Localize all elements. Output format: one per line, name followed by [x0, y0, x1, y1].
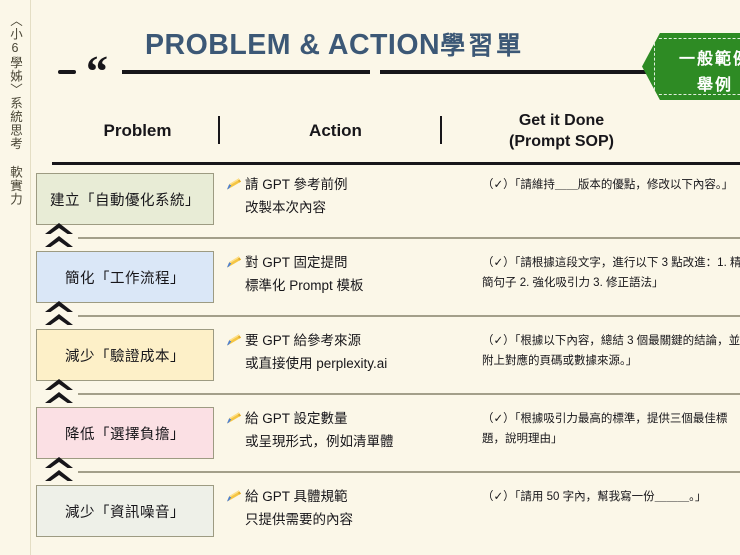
quote-mark-icon: “: [86, 50, 108, 94]
column-header-problem: Problem: [60, 120, 215, 141]
action-text-2: 或直接使用 perplexity.ai: [245, 356, 387, 371]
side-note-text: 〈小6學姊〉系統思考 軟實力: [4, 14, 26, 206]
action-text-1: 請 GPT 參考前例: [245, 177, 348, 192]
banner-line-1: 一般範例: [664, 45, 740, 69]
action-line-2: 改製本次內容: [226, 196, 476, 219]
action-cell: 請 GPT 參考前例改製本次內容: [226, 173, 476, 219]
get-it-done-cell: （✓）「請根據這段文字，進行以下 3 點改進：1. 精簡句子 2. 強化吸引力 …: [482, 253, 740, 293]
pencil-icon: [226, 175, 242, 189]
table-row: 簡化「工作流程」對 GPT 固定提問標準化 Prompt 模板（✓）「請根據這段…: [30, 243, 740, 321]
page-header: PROBLEM & ACTION學習單 “ 一般範例 舉例: [30, 0, 740, 105]
action-text-1: 給 GPT 具體規範: [245, 489, 348, 504]
action-text-1: 給 GPT 設定數量: [245, 411, 348, 426]
action-line-1: 請 GPT 參考前例: [226, 173, 476, 196]
action-line-2: 只提供需要的內容: [226, 508, 476, 531]
table-row: 建立「自動優化系統」請 GPT 參考前例改製本次內容（✓）「請維持＿＿版本的優點…: [30, 165, 740, 243]
row-separator: [78, 237, 740, 239]
table-row: 減少「資訊噪音」給 GPT 具體規範只提供需要的內容（✓）「請用 50 字內，幫…: [30, 477, 740, 555]
action-text-1: 要 GPT 給參考來源: [245, 333, 361, 348]
double-chevron-up-icon: [44, 457, 74, 483]
action-cell: 對 GPT 固定提問標準化 Prompt 模板: [226, 251, 476, 297]
problem-label: 建立「自動優化系統」: [50, 189, 200, 210]
problem-box[interactable]: 減少「驗證成本」: [36, 329, 214, 381]
get-it-done-cell: （✓）「根據吸引力最高的標準，提供三個最佳標題，說明理由」: [482, 409, 740, 449]
action-line-1: 要 GPT 給參考來源: [226, 329, 476, 352]
table-body: 建立「自動優化系統」請 GPT 參考前例改製本次內容（✓）「請維持＿＿版本的優點…: [30, 165, 740, 555]
action-text-2: 只提供需要的內容: [245, 512, 353, 527]
banner-line-2: 舉例: [664, 71, 740, 95]
get-it-done-cell: （✓）「根據以下內容，總結 3 個最關鍵的結論，並附上對應的頁碼或數據來源。」: [482, 331, 740, 371]
action-line-2: 或直接使用 perplexity.ai: [226, 352, 476, 375]
page-title: PROBLEM & ACTION學習單: [145, 26, 524, 62]
table-column-headers: Problem Action Get it Done (Prompt SOP): [30, 108, 740, 160]
table-row: 減少「驗證成本」要 GPT 給參考來源或直接使用 perplexity.ai（✓…: [30, 321, 740, 399]
page-title-en: PROBLEM & ACTION: [145, 29, 440, 61]
problem-label: 降低「選擇負擔」: [65, 423, 185, 444]
column-header-done-sub: (Prompt SOP): [454, 131, 669, 152]
problem-box[interactable]: 簡化「工作流程」: [36, 251, 214, 303]
double-chevron-up-icon: [44, 223, 74, 249]
prompt-sop-text: （✓）「請用 50 字內，幫我寫一份＿＿＿。」: [482, 491, 706, 503]
action-line-1: 對 GPT 固定提問: [226, 251, 476, 274]
header-rule-right: [380, 70, 650, 74]
problem-label: 減少「驗證成本」: [65, 345, 185, 366]
get-it-done-cell: （✓）「請維持＿＿版本的優點，修改以下內容。」: [482, 175, 740, 195]
pencil-icon: [226, 331, 242, 345]
problem-box[interactable]: 降低「選擇負擔」: [36, 407, 214, 459]
row-separator: [78, 471, 740, 473]
problem-box[interactable]: 建立「自動優化系統」: [36, 173, 214, 225]
column-separator-2: [440, 116, 442, 144]
column-header-done-main: Get it Done: [454, 110, 669, 131]
action-line-2: 或呈現形式，例如清單體: [226, 430, 476, 453]
prompt-sop-text: （✓）「根據以下內容，總結 3 個最關鍵的結論，並附上對應的頁碼或數據來源。」: [482, 335, 740, 367]
action-cell: 給 GPT 設定數量或呈現形式，例如清單體: [226, 407, 476, 453]
column-header-get-it-done: Get it Done (Prompt SOP): [454, 110, 669, 152]
example-banner: 一般範例 舉例: [642, 33, 740, 100]
column-separator-1: [218, 116, 220, 144]
row-separator: [78, 393, 740, 395]
action-cell: 要 GPT 給參考來源或直接使用 perplexity.ai: [226, 329, 476, 375]
action-line-1: 給 GPT 設定數量: [226, 407, 476, 430]
table-row: 降低「選擇負擔」給 GPT 設定數量或呈現形式，例如清單體（✓）「根據吸引力最高…: [30, 399, 740, 477]
problem-box[interactable]: 減少「資訊噪音」: [36, 485, 214, 537]
row-separator: [78, 315, 740, 317]
action-line-1: 給 GPT 具體規範: [226, 485, 476, 508]
action-text-2: 改製本次內容: [245, 200, 326, 215]
pencil-icon: [226, 253, 242, 267]
prompt-sop-text: （✓）「請根據這段文字，進行以下 3 點改進：1. 精簡句子 2. 強化吸引力 …: [482, 257, 740, 289]
action-text-1: 對 GPT 固定提問: [245, 255, 348, 270]
page-title-cjk: 學習單: [440, 32, 524, 60]
side-note-strip: 〈小6學姊〉系統思考 軟實力: [0, 0, 31, 555]
pencil-icon: [226, 487, 242, 501]
column-header-action: Action: [258, 120, 413, 141]
get-it-done-cell: （✓）「請用 50 字內，幫我寫一份＿＿＿。」: [482, 487, 740, 507]
pencil-icon: [226, 409, 242, 423]
prompt-sop-text: （✓）「請維持＿＿版本的優點，修改以下內容。」: [482, 179, 733, 191]
action-line-2: 標準化 Prompt 模板: [226, 274, 476, 297]
double-chevron-up-icon: [44, 379, 74, 405]
double-chevron-up-icon: [44, 301, 74, 327]
action-cell: 給 GPT 具體規範只提供需要的內容: [226, 485, 476, 531]
action-text-2: 或呈現形式，例如清單體: [245, 434, 394, 449]
action-text-2: 標準化 Prompt 模板: [245, 278, 364, 293]
header-dash-icon: [58, 70, 76, 74]
problem-label: 減少「資訊噪音」: [65, 501, 185, 522]
header-rule-left: [122, 70, 370, 74]
problem-label: 簡化「工作流程」: [65, 267, 185, 288]
prompt-sop-text: （✓）「根據吸引力最高的標準，提供三個最佳標題，說明理由」: [482, 413, 727, 445]
